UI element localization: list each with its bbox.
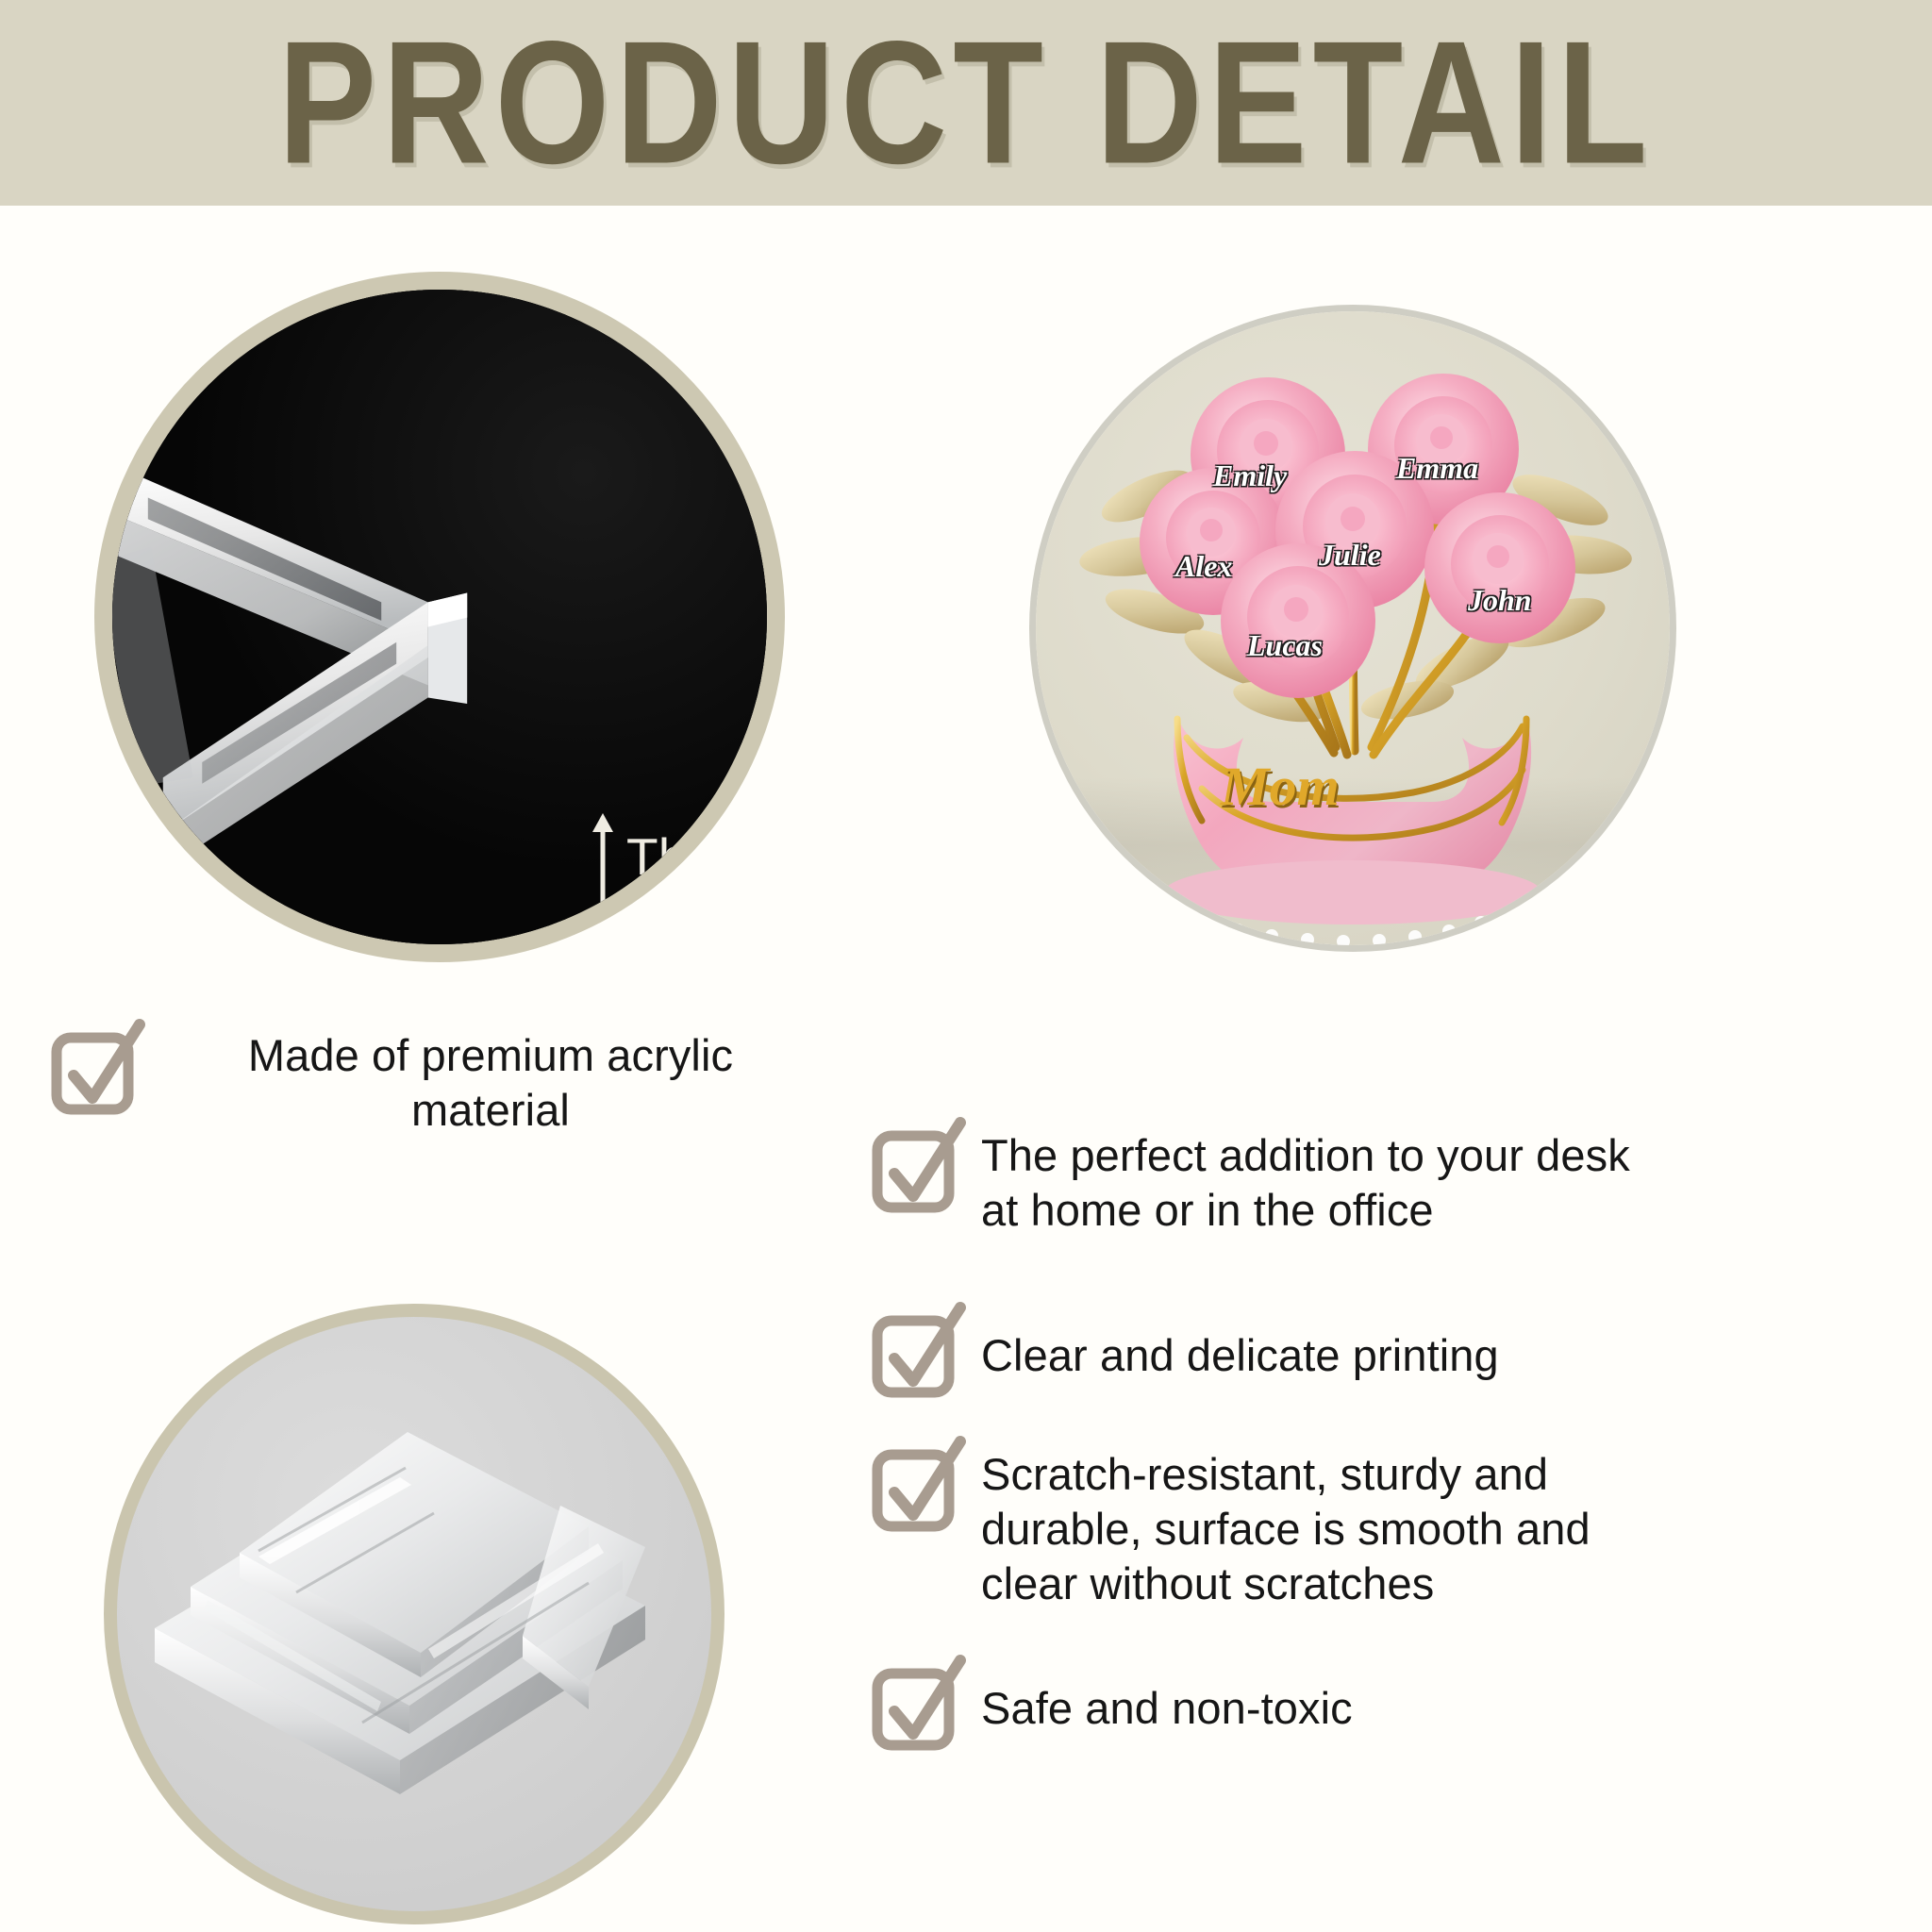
feature-label: Scratch-resistant, sturdy and durable, s… — [981, 1443, 1591, 1611]
rose-name-emma: Emma — [1396, 451, 1478, 486]
header-banner: PRODUCT DETAIL — [0, 0, 1932, 206]
feature-label: Safe and non-toxic — [981, 1662, 1353, 1736]
feature-item-scratch-resistant: Scratch-resistant, sturdy and durable, s… — [870, 1443, 1926, 1611]
checkbox-check-icon — [870, 1662, 960, 1753]
rose-name-lucas: Lucas — [1247, 628, 1323, 663]
checkbox-check-icon — [870, 1124, 960, 1215]
checkbox-check-icon — [870, 1309, 960, 1400]
feature-item-desk-addition: The perfect addition to your desk at hom… — [870, 1124, 1917, 1238]
feature-label: The perfect addition to your desk at hom… — [981, 1124, 1630, 1238]
rose-name-alex: Alex — [1175, 549, 1232, 584]
checkbox-check-icon — [49, 1026, 140, 1117]
feature-item-safe-non-toxic: Safe and non-toxic — [870, 1662, 1917, 1753]
thickness-detail-image: Thickness 0.55 in — [94, 272, 785, 962]
thickness-label: Thickness 0.55 in — [626, 826, 785, 947]
rose-name-labels: Emily Emma Alex Julie Lucas John — [1036, 311, 1670, 945]
page-title: PRODUCT DETAIL — [278, 15, 1654, 190]
feature-item-clear-printing: Clear and delicate printing — [870, 1309, 1917, 1400]
vertical-double-arrow-icon — [591, 811, 615, 962]
feature-item-premium-acrylic: Made of premium acrylic material — [49, 1026, 898, 1138]
vase-name-label: Mom — [1221, 755, 1340, 818]
rose-name-john: John — [1468, 583, 1532, 618]
acrylic-edge-illustration — [94, 316, 675, 931]
product-photo: Emily Emma Alex Julie Lucas John Mom — [1036, 311, 1670, 945]
acrylic-sheets-photo — [104, 1304, 724, 1924]
feature-label: Made of premium acrylic material — [160, 1026, 821, 1138]
checkbox-check-icon — [870, 1443, 960, 1534]
acrylic-sheets-illustration — [117, 1317, 711, 1911]
rose-name-emily: Emily — [1213, 458, 1287, 493]
feature-label: Clear and delicate printing — [981, 1309, 1499, 1383]
rose-name-julie: Julie — [1319, 538, 1381, 573]
